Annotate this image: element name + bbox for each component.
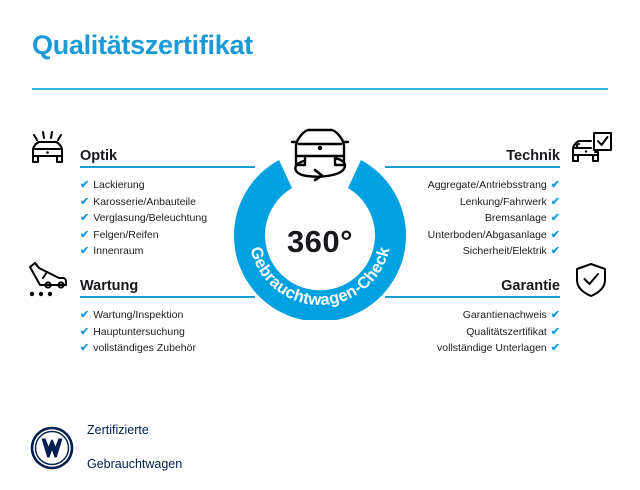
section-title: Garantie — [501, 278, 560, 294]
item-label: Lenkung/Fahrwerk — [460, 196, 547, 208]
badge-360-gebrauchtwagen-check: Gebrauchtwagen-Check 360° — [222, 120, 418, 320]
item-label: Verglasung/Beleuchtung — [93, 212, 207, 224]
check-icon: ✔ — [80, 229, 89, 241]
shield-check-icon — [573, 262, 609, 305]
page-title: Qualitätszertifikat — [32, 30, 253, 61]
list-item: vollständige Unterlagen✔ — [385, 340, 560, 357]
item-label: Aggregate/Antriebsstrang — [428, 179, 547, 191]
item-label: vollständiges Zubehör — [93, 342, 196, 354]
check-icon: ✔ — [551, 342, 560, 354]
footer-brand-text: Zertifizierte Gebrauchtwagen — [87, 405, 182, 490]
check-icon: ✔ — [551, 326, 560, 338]
list-item: ✔vollständiges Zubehör — [80, 340, 255, 357]
check-icon: ✔ — [80, 245, 89, 257]
volkswagen-logo — [30, 426, 74, 470]
check-icon: ✔ — [80, 179, 89, 191]
check-icon: ✔ — [80, 342, 89, 354]
list-item: ✔Hauptuntersuchung — [80, 324, 255, 341]
footer-brand: Zertifizierte Gebrauchtwagen — [30, 405, 182, 490]
check-icon: ✔ — [551, 229, 560, 241]
item-label: Karosserie/Anbauteile — [93, 196, 196, 208]
check-icon: ✔ — [80, 212, 89, 224]
car-checkbox-icon — [567, 130, 613, 175]
check-icon: ✔ — [551, 212, 560, 224]
list-item: Qualitätszertifikat✔ — [385, 324, 560, 341]
item-label: Wartung/Inspektion — [93, 309, 183, 321]
footer-line-1: Zertifizierte — [87, 422, 182, 439]
check-icon: ✔ — [551, 179, 560, 191]
section-title: Technik — [506, 148, 560, 164]
item-label: Bremsanlage — [485, 212, 547, 224]
title-divider — [32, 88, 608, 90]
check-icon: ✔ — [80, 196, 89, 208]
item-label: Felgen/Reifen — [93, 229, 158, 241]
footer-line-2: Gebrauchtwagen — [87, 456, 182, 473]
section-title: Optik — [80, 148, 117, 164]
check-icon: ✔ — [80, 326, 89, 338]
check-icon: ✔ — [80, 309, 89, 321]
item-label: Hauptuntersuchung — [93, 326, 185, 338]
item-label: Innenraum — [93, 245, 143, 257]
car-lift-icon — [26, 261, 70, 306]
check-icon: ✔ — [551, 245, 560, 257]
check-icon: ✔ — [551, 196, 560, 208]
item-label: Unterboden/Abgasanlage — [428, 229, 547, 241]
check-icon: ✔ — [551, 309, 560, 321]
car-shine-icon — [26, 130, 68, 175]
item-label: Qualitätszertifikat — [466, 326, 547, 338]
item-label: vollständige Unterlagen — [437, 342, 547, 354]
item-label: Lackierung — [93, 179, 144, 191]
item-label: Garantienachweis — [463, 309, 547, 321]
car-rotation-icon — [282, 120, 358, 182]
section-title: Wartung — [80, 278, 138, 294]
certificate-page: Qualitätszertifikat Optik ✔Lackierung ✔ — [0, 0, 640, 480]
badge-degrees-text: 360° — [222, 224, 418, 260]
item-label: Sicherheit/Elektrik — [463, 245, 547, 257]
